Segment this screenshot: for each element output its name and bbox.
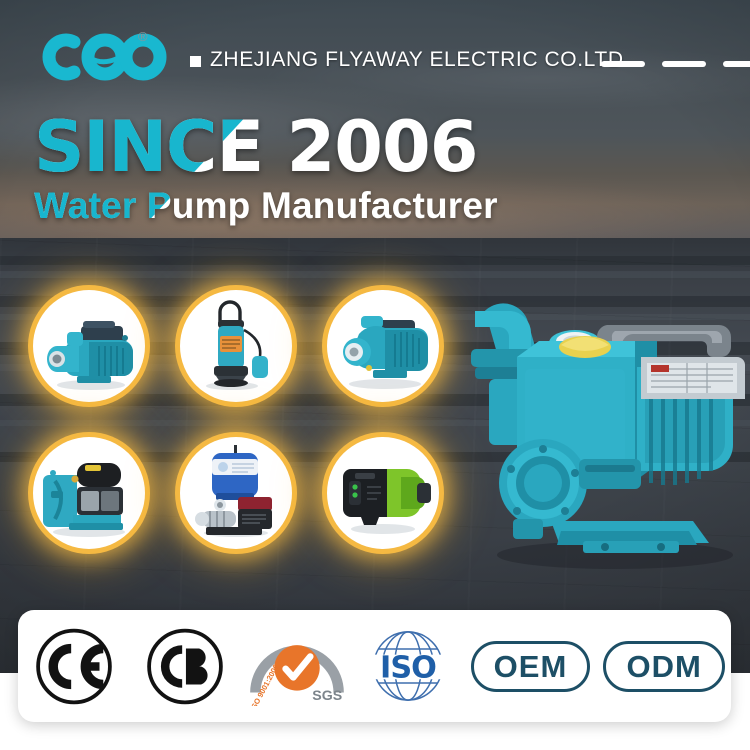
headline-block: SINCE 2006 Water Pump Manufacturer SINCE… (34, 112, 574, 232)
cert-iso[interactable]: ISO (352, 610, 463, 722)
company-name: ZHEJIANG FLYAWAY ELECTRIC CO.LTD (210, 48, 624, 72)
header-dash (601, 61, 645, 67)
product-thumb-peripheral-pump[interactable] (33, 290, 145, 402)
header-dash (662, 61, 706, 67)
header-dash (723, 61, 750, 67)
banner-stage: ® ZHEJIANG FLYAWAY ELECTRIC CO.LTD SINCE… (0, 0, 750, 750)
product-thumb-circulation-pump[interactable] (327, 437, 439, 549)
cert-cb[interactable] (129, 610, 240, 722)
banner-header: ® ZHEJIANG FLYAWAY ELECTRIC CO.LTD (0, 0, 750, 96)
cert-odm-label: ODM (603, 641, 724, 692)
product-thumb-submersible-sewage-pump[interactable] (180, 290, 292, 402)
product-thumb-self-priming-pump[interactable] (33, 437, 145, 549)
cert-ce[interactable] (18, 610, 129, 722)
header-dashes (601, 61, 750, 67)
square-bullet-icon (190, 56, 201, 67)
cert-oem[interactable]: OEM (464, 610, 598, 722)
hero-product-image (455, 283, 750, 583)
cert-oem-label: OEM (471, 641, 591, 692)
svg-text:ISO: ISO (380, 650, 436, 685)
cert-odm[interactable]: ODM (597, 610, 731, 722)
product-thumb-centrifugal-pump[interactable] (327, 290, 439, 402)
product-thumb-booster-pressure-system[interactable] (180, 437, 292, 549)
registered-trademark-icon: ® (138, 30, 148, 43)
certification-card: SYSTEM CERTIFICATION ISO 9001:2000 SGS I… (18, 610, 731, 722)
svg-text:SYSTEM CERTIFICATION: SYSTEM CERTIFICATION (248, 638, 346, 645)
svg-text:SGS: SGS (312, 688, 342, 704)
cert-sgs[interactable]: SYSTEM CERTIFICATION ISO 9001:2000 SGS (241, 610, 352, 722)
cgo-logo[interactable] (30, 28, 180, 86)
